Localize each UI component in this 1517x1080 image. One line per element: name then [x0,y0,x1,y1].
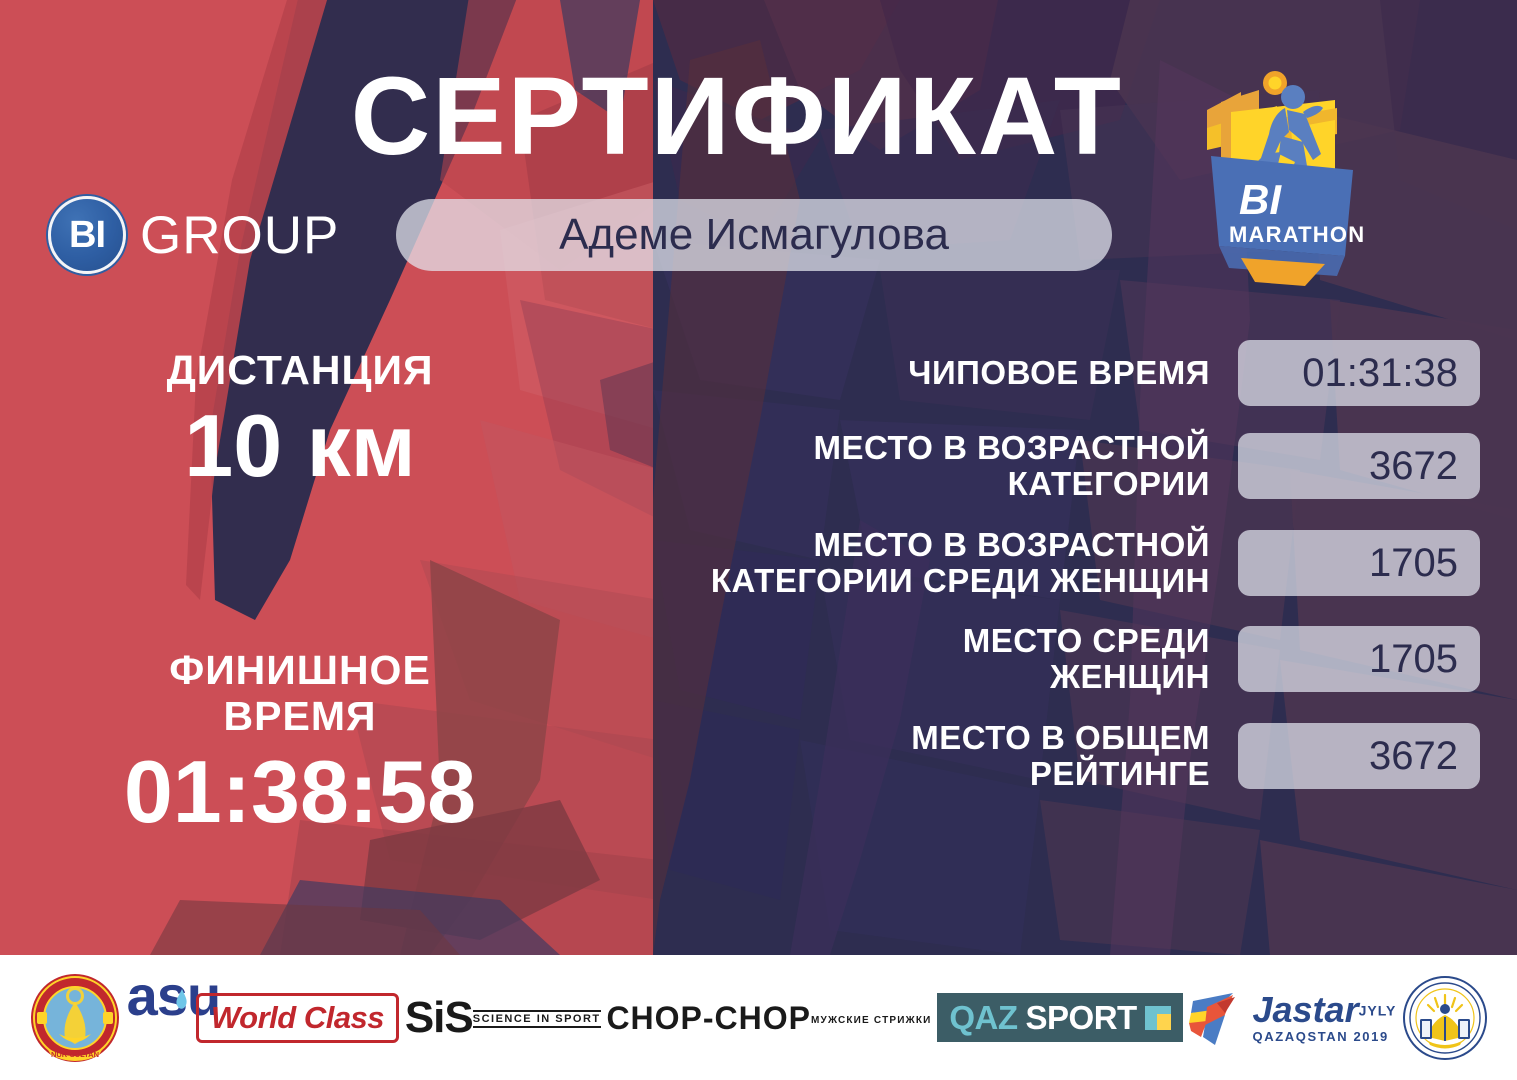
jastar-jyly-text: JYLY [1359,1003,1397,1019]
result-value-pill: 01:31:38 [1238,340,1480,406]
result-value: 3672 [1369,446,1458,486]
qazsport-flag-icon [1145,1006,1171,1030]
finish-time-label: ФИНИШНОЕ ВРЕМЯ [60,648,540,740]
results-list: ЧИПОВОЕ ВРЕМЯ 01:31:38 МЕСТО В ВОЗРАСТНО… [600,340,1480,816]
qazsport-sport: SPORT [1026,1001,1137,1034]
bi-group-wordmark: GROUP [140,209,339,262]
bi-circle-icon: BI [48,196,126,274]
nur-sultan-caption: NUR-SULTAN [51,1050,99,1059]
world-class-wordmark: World Class [196,993,399,1043]
marathon-logo-line2: MARATHON [1229,222,1365,247]
finish-time-value: 01:38:58 [60,744,540,839]
result-value: 01:31:38 [1302,353,1458,393]
result-value-pill: 1705 [1238,626,1480,692]
result-value-pill: 3672 [1238,433,1480,499]
sis-wordmark: SiS [405,996,473,1040]
sponsor-chop-chop: CHOP-CHOP МУЖСКИЕ СТРИЖКИ [606,968,931,1068]
chop-chop-tagline: МУЖСКИЕ СТРИЖКИ [811,1015,932,1026]
sponsor-nur-sultan-emblem: NUR-SULTAN [29,968,121,1068]
chop-chop-wordmark: CHOP-CHOP [606,1002,811,1034]
sponsor-asu: asu [127,968,191,1068]
sponsor-qazsport: QAZ SPORT [937,968,1182,1068]
bi-group-logo: BI GROUP [48,196,339,274]
result-row-age-category-women: МЕСТО В ВОЗРАСТНОЙ КАТЕГОРИИ СРЕДИ ЖЕНЩИ… [600,527,1480,600]
result-label: МЕСТО В ВОЗРАСТНОЙ КАТЕГОРИИ СРЕДИ ЖЕНЩИ… [600,527,1238,600]
result-row-chip-time: ЧИПОВОЕ ВРЕМЯ 01:31:38 [600,340,1480,406]
sponsor-science-in-sport: SiS SCIENCE IN SPORT [405,968,601,1068]
result-label: МЕСТО В ОБЩЕМ РЕЙТИНГЕ [600,720,1238,793]
result-row-overall: МЕСТО В ОБЩЕМ РЕЙТИНГЕ 3672 [600,720,1480,793]
result-value: 3672 [1369,736,1458,776]
result-value: 1705 [1369,543,1458,583]
sponsor-bar: NUR-SULTAN asu World Class SiS SCIENCE I… [0,955,1517,1080]
result-value-pill: 1705 [1238,530,1480,596]
distance-label: ДИСТАНЦИЯ [60,348,540,394]
result-label: ЧИПОВОЕ ВРЕМЯ [600,355,1238,391]
sponsor-world-class: World Class [196,968,399,1068]
participant-name: Адеме Исмагулова [559,213,949,257]
jastar-wordmark: Jastar [1253,989,1359,1030]
distance-block: ДИСТАНЦИЯ 10 км [60,348,540,493]
result-label: МЕСТО В ВОЗРАСТНОЙ КАТЕГОРИИ [600,430,1238,503]
result-row-age-category: МЕСТО В ВОЗРАСТНОЙ КАТЕГОРИИ 3672 [600,430,1480,503]
jastar-subtitle: QAZAQSTAN 2019 [1253,1030,1397,1043]
result-value-pill: 3672 [1238,723,1480,789]
result-row-among-women: МЕСТО СРЕДИ ЖЕНЩИН 1705 [600,623,1480,696]
result-label: МЕСТО СРЕДИ ЖЕНЩИН [600,623,1238,696]
participant-name-badge: Адеме Исмагулова [396,199,1112,271]
sponsor-ministry-emblem [1402,968,1488,1068]
asu-drop-icon [177,989,187,1009]
jastar-arrow-icon [1189,987,1247,1049]
certificate-title: СЕРТИФИКАТ [0,62,1160,172]
qazsport-qaz: QAZ [949,1001,1017,1034]
certificate-canvas: СЕРТИФИКАТ BI GROUP Адеме Исмагулова [0,0,1517,1080]
bi-marathon-logo: BI MARATHON [1185,62,1385,302]
result-value: 1705 [1369,639,1458,679]
sponsor-jastar-jyly: JastarJYLY QAZAQSTAN 2019 [1189,968,1397,1068]
finish-time-block: ФИНИШНОЕ ВРЕМЯ 01:38:58 [60,648,540,839]
sis-tagline: SCIENCE IN SPORT [473,1010,601,1028]
marathon-logo-line1: BI [1239,176,1282,223]
qazsport-badge: QAZ SPORT [937,993,1182,1042]
bi-mark-text: BI [69,216,105,254]
distance-value: 10 км [60,398,540,493]
